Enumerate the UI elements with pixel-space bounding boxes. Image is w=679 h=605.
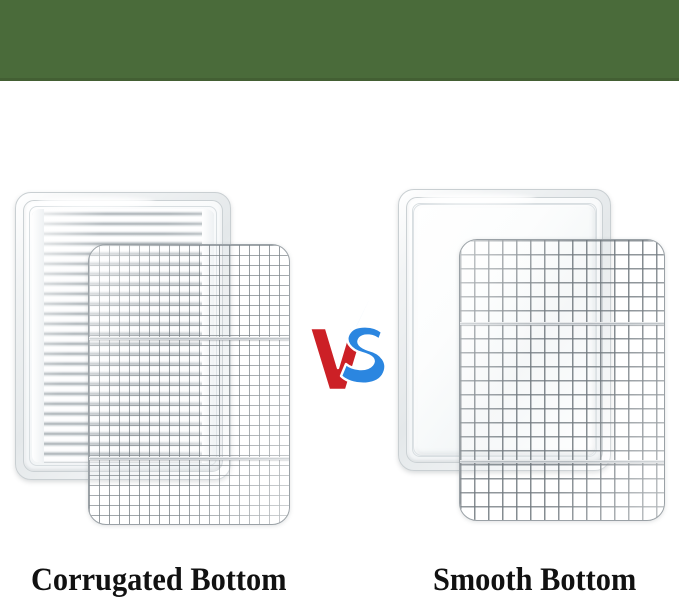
cooling-rack-fine: [88, 244, 290, 525]
rack-cross-bar-lower: [89, 457, 289, 460]
pan-highlight: [37, 197, 155, 207]
rack-cross-bar-lower: [460, 460, 664, 463]
rack-cross-bar-upper: [89, 337, 289, 340]
caption-smooth-bottom: Smooth Bottom: [433, 562, 636, 599]
ridge-end-cap-left: [32, 209, 44, 463]
cooling-rack-coarse: [459, 239, 665, 521]
pan-highlight: [420, 194, 536, 204]
rack-cross-bar-upper: [460, 322, 664, 325]
header-banner: [0, 0, 679, 78]
rack-grid-mesh: [89, 245, 289, 524]
rack-grid-mesh: [460, 240, 664, 520]
vs-badge: [304, 296, 390, 406]
product-comparison-stage: Corrugated Bottom: [0, 81, 679, 605]
caption-corrugated-bottom: Corrugated Bottom: [31, 562, 286, 599]
